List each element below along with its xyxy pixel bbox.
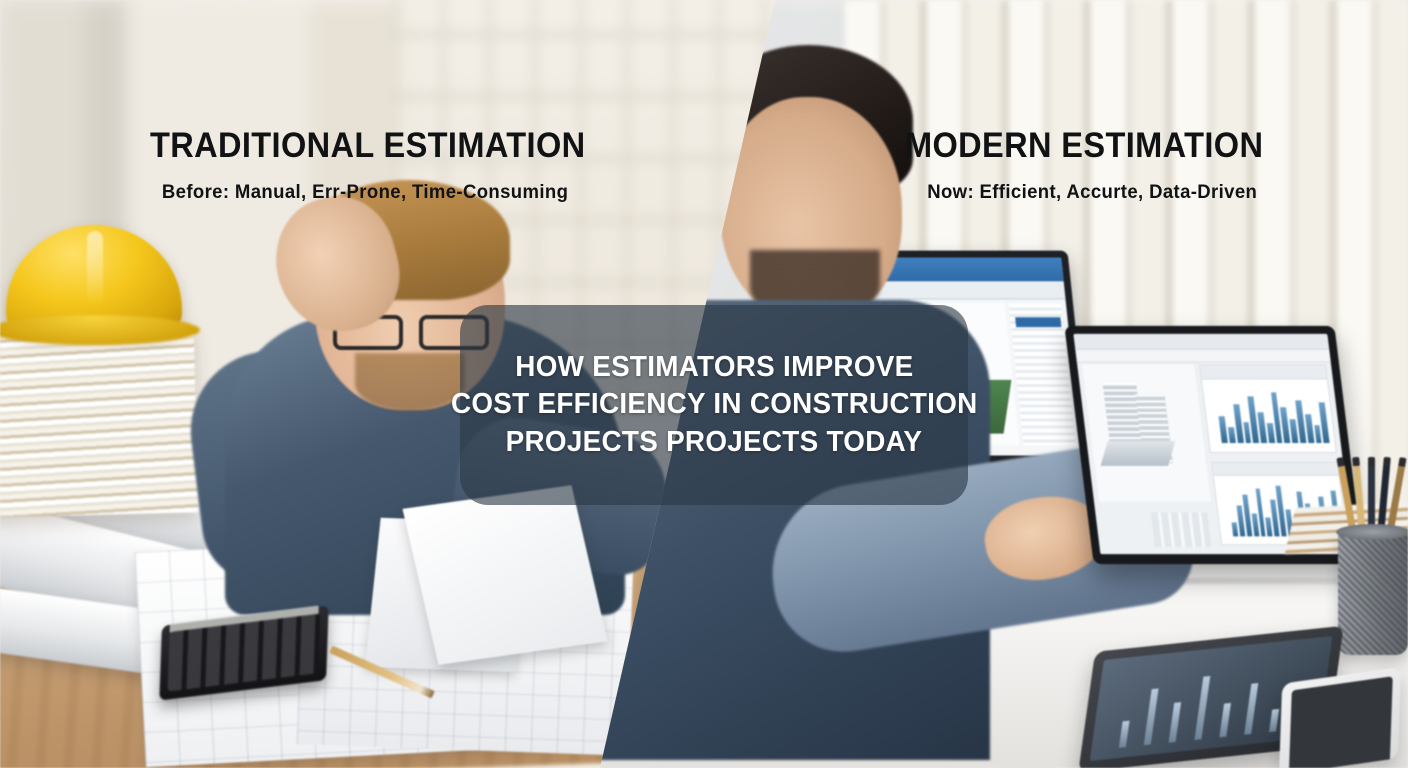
- bar-chart-upper: [1215, 386, 1329, 443]
- banner-line-2: COST EFFICIENCY IN CONSTRUCTION: [451, 388, 978, 422]
- app-toolbar: [1075, 349, 1331, 362]
- property-grid: [1151, 512, 1211, 547]
- pencil-cup-icon: [1338, 530, 1408, 655]
- left-panel-subtitle: Before: Manual, Err-Prone, Time-Consumin…: [136, 183, 594, 203]
- chart-panel-upper: [1199, 365, 1337, 453]
- chart-panel-header: [1212, 463, 1339, 476]
- left-heading-group: TRADITIONAL ESTIMATION Before: Manual, E…: [150, 128, 618, 203]
- right-heading-group: MODERN ESTIMATION Now: Efficient, Accurt…: [905, 128, 1290, 203]
- model-viewport: [1082, 365, 1210, 502]
- smartphone-icon: [1279, 667, 1401, 768]
- held-paper: [403, 485, 608, 665]
- paper-stack: [0, 322, 198, 517]
- chart-panel-header: [1200, 366, 1327, 380]
- left-panel-title: TRADITIONAL ESTIMATION: [150, 128, 586, 163]
- app-titlebar: [1073, 334, 1329, 349]
- hero-banner-image: TRADITIONAL ESTIMATION Before: Manual, E…: [0, 0, 1408, 768]
- right-panel-title: MODERN ESTIMATION: [905, 128, 1263, 163]
- phone-screen: [1289, 676, 1393, 768]
- model-base-plinth: [1101, 441, 1175, 466]
- right-panel-subtitle: Now: Efficient, Accurte, Data-Driven: [913, 183, 1271, 203]
- beard: [355, 353, 465, 411]
- banner-line-1: HOW ESTIMATORS IMPROVE: [515, 351, 913, 385]
- banner-line-3: PROJECTS PROJECTS TODAY: [506, 426, 923, 460]
- main-title-banner: HOW ESTIMATORS IMPROVE COST EFFICIENCY I…: [460, 305, 968, 505]
